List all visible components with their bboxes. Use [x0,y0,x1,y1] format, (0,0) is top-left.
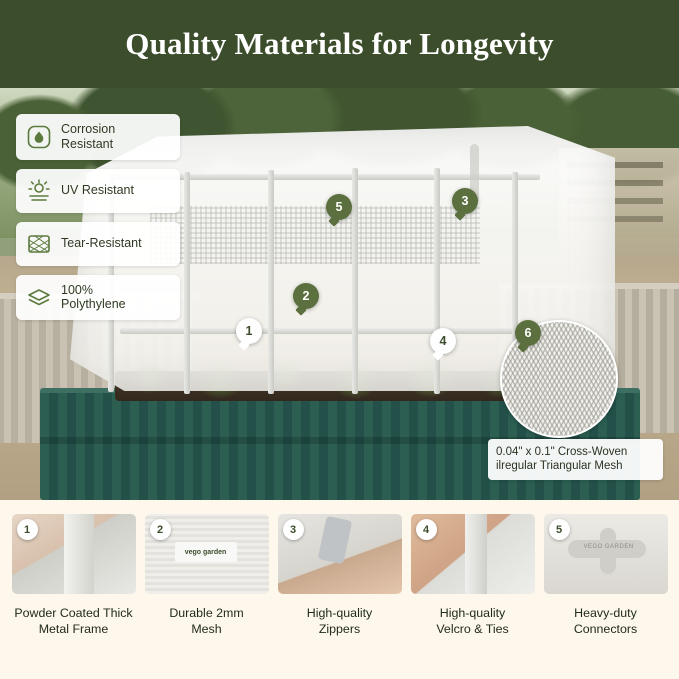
connector-part-vertical [600,528,616,574]
feature-chip-polyethylene[interactable]: 100% Polythylene [16,275,180,321]
uv-sun-icon [26,178,52,204]
feature-chip-tear-resistant[interactable]: Tear-Resistant [16,222,180,266]
badge-number: 1 [24,524,30,536]
badge-number: 3 [290,524,296,536]
feature-card-badge: 2 [150,519,171,540]
feature-chip-label: UV Resistant [61,183,134,198]
callout-number: 6 [525,326,532,340]
feature-card-thumbnail: 3 [278,514,402,594]
badge-number: 4 [423,524,429,536]
polyethylene-layers-icon [26,284,52,310]
callout-number: 4 [440,334,447,348]
frame-bottom-bar [120,328,530,334]
frame-pole-2 [184,172,190,394]
frame-pole-4 [352,168,358,394]
feature-card-badge: 3 [283,519,304,540]
feature-chip-list: Corrosion Resistant UV Resistant [16,114,180,320]
feature-card-4[interactable]: 4 High-quality Velcro & Ties [409,514,536,679]
feature-card-caption: High-quality Velcro & Ties [436,605,508,637]
callout-number: 3 [462,194,469,208]
feature-chip-uv-resistant[interactable]: UV Resistant [16,169,180,213]
feature-card-badge: 5 [549,519,570,540]
corrosion-drop-icon [26,124,52,150]
page-root: Quality Materials for Longevity [0,0,679,679]
feature-card-thumbnail: 1 [12,514,136,594]
callout-number: 1 [246,324,253,338]
page-title: Quality Materials for Longevity [125,26,553,62]
brand-tag-label: vego garden [175,542,237,562]
feature-card-caption: High-quality Zippers [307,605,372,637]
tear-resistant-mesh-icon [26,231,52,257]
feature-card-caption: Powder Coated Thick Metal Frame [14,605,132,637]
feature-chip-label: Tear-Resistant [61,236,142,251]
feature-card-thumbnail: 4 [411,514,535,594]
callout-marker-6[interactable]: 6 [515,320,541,346]
frame-pole-3 [268,170,274,394]
feature-card-caption: Heavy-duty Connectors [574,605,637,637]
callout-marker-3[interactable]: 3 [452,188,478,214]
feature-chip-corrosion-resistant[interactable]: Corrosion Resistant [16,114,180,160]
callout-marker-5[interactable]: 5 [326,194,352,220]
badge-number: 5 [556,524,562,536]
callout-marker-2[interactable]: 2 [293,283,319,309]
callout-marker-1[interactable]: 1 [236,318,262,344]
feature-card-5[interactable]: 5 VEGO GARDEN Heavy-duty Connectors [542,514,669,679]
mesh-window-panel [150,206,480,264]
header-banner: Quality Materials for Longevity [0,0,679,88]
callout-number: 5 [336,200,343,214]
callout-marker-4[interactable]: 4 [430,328,456,354]
mesh-spec-label: 0.04" x 0.1" Cross-Woven ilregular Trian… [488,439,663,480]
feature-card-thumbnail: 5 VEGO GARDEN [544,514,668,594]
feature-card-1[interactable]: 1 Powder Coated Thick Metal Frame [10,514,137,679]
feature-card-strip: 1 Powder Coated Thick Metal Frame 2 vego… [0,500,679,679]
feature-card-2[interactable]: 2 vego garden Durable 2mm Mesh [143,514,270,679]
feature-card-badge: 4 [416,519,437,540]
feature-card-badge: 1 [17,519,38,540]
badge-number: 2 [157,524,163,536]
feature-card-thumbnail: 2 vego garden [145,514,269,594]
hero-product-photo: Corrosion Resistant UV Resistant [0,88,679,500]
feature-card-3[interactable]: 3 High-quality Zippers [276,514,403,679]
callout-number: 2 [303,289,310,303]
feature-chip-label: 100% Polythylene [61,283,126,313]
feature-chip-label: Corrosion Resistant [61,122,115,152]
feature-card-caption: Durable 2mm Mesh [169,605,243,637]
brand-tag-label: VEGO GARDEN [584,544,634,550]
